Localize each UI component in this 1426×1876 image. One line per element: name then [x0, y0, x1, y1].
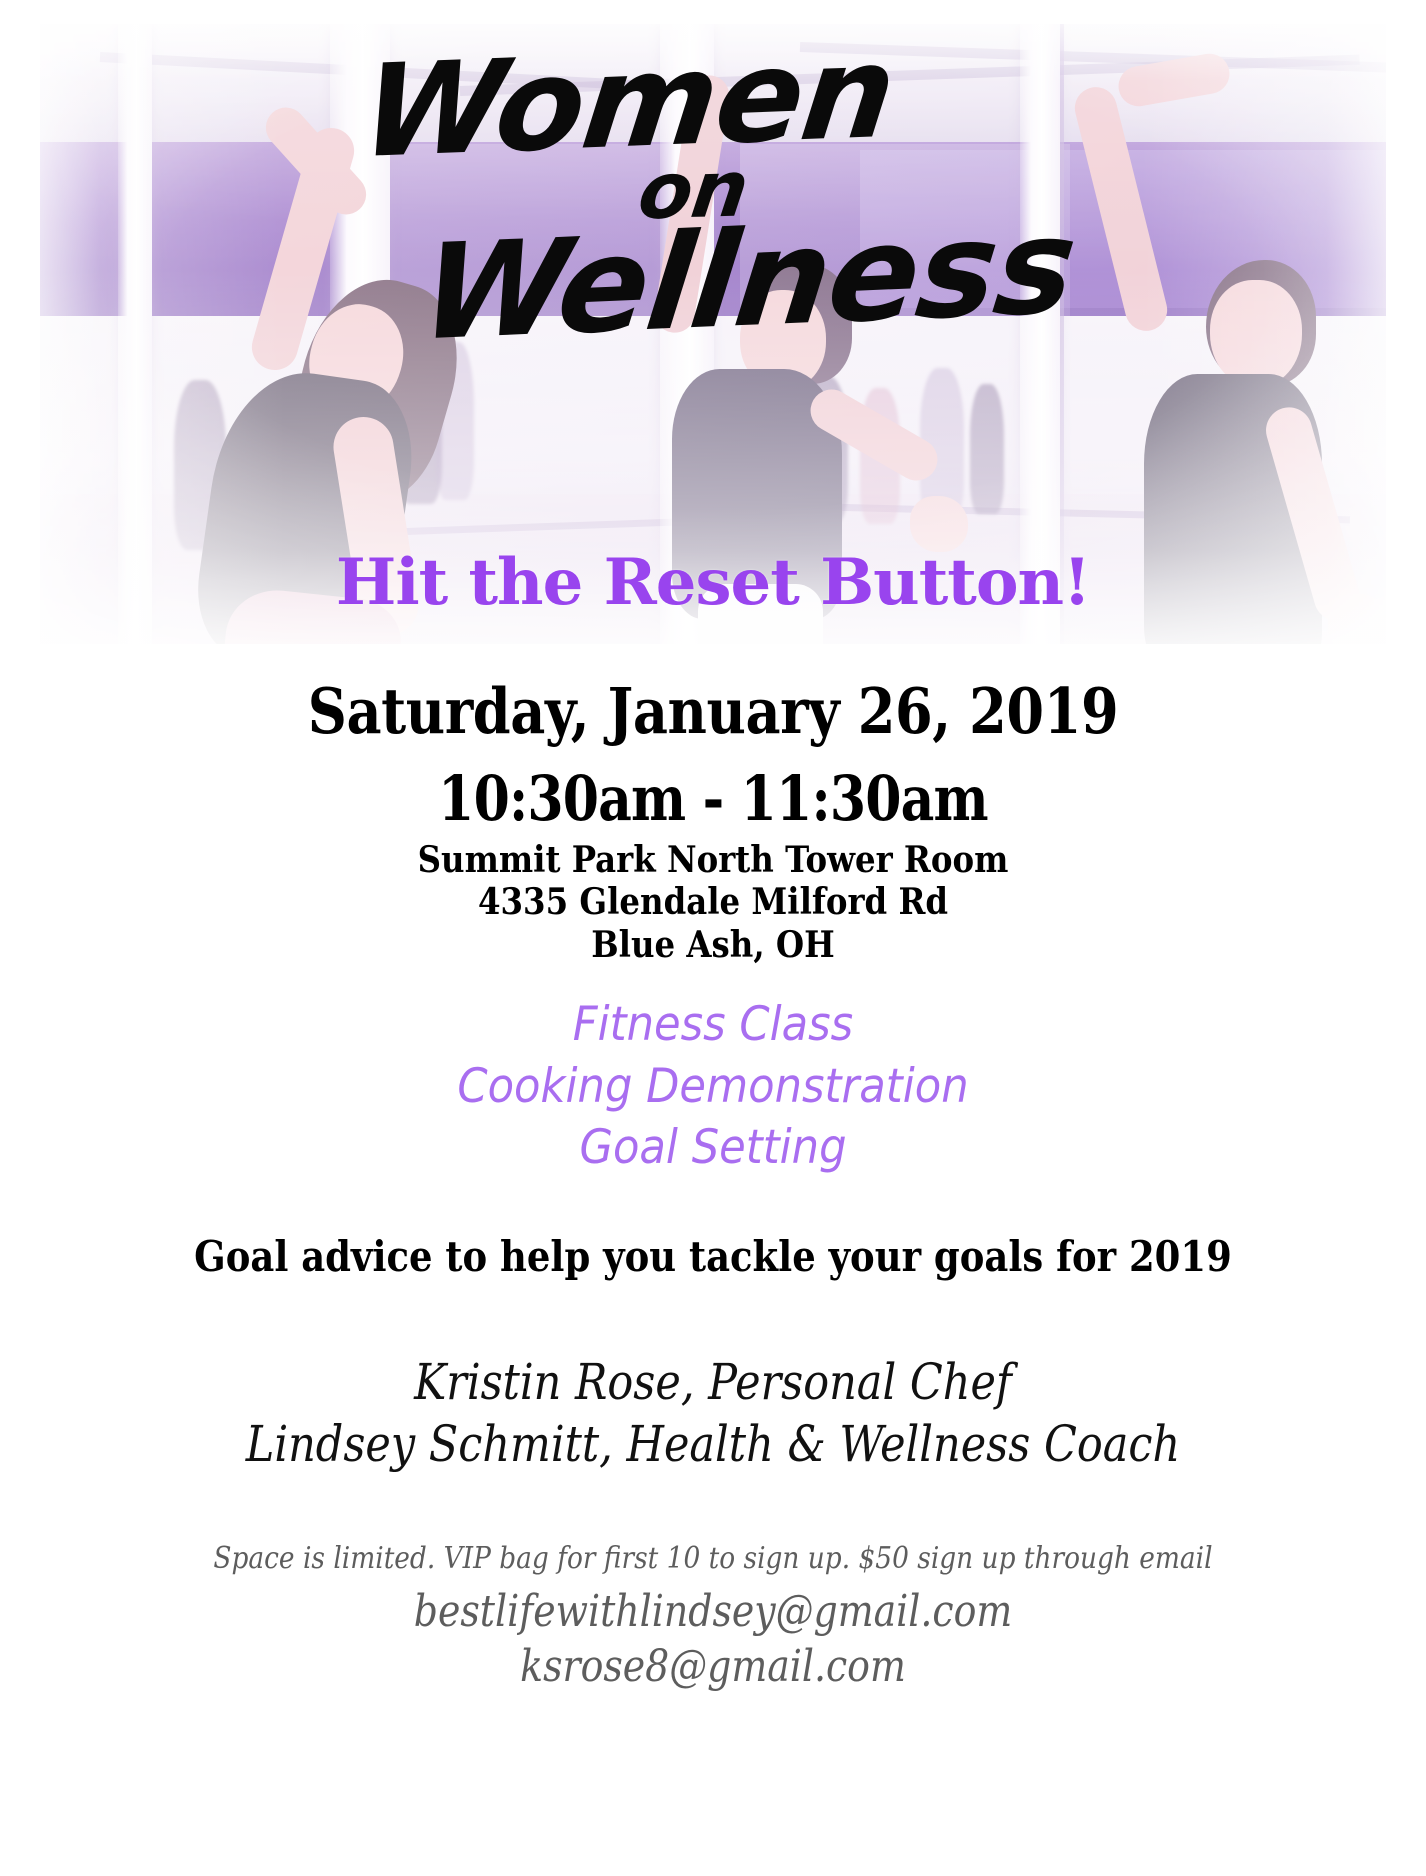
presenter-1: Kristin Rose, Personal Chef — [100, 1351, 1326, 1413]
contact-emails: bestlifewithlindsey@gmail.com ksrose8@gm… — [100, 1584, 1326, 1695]
flyer-body: Saturday, January 26, 2019 10:30am - 11:… — [0, 660, 1426, 1695]
event-venue: Summit Park North Tower Room 4335 Glenda… — [71, 839, 1354, 966]
offerings-list: Fitness Class Cooking Demonstration Goal… — [57, 994, 1369, 1177]
offering-item-3: Goal Setting — [57, 1117, 1369, 1178]
offering-item-2: Cooking Demonstration — [57, 1056, 1369, 1117]
event-time: 10:30am - 11:30am — [114, 762, 1312, 835]
presenter-2: Lindsey Schmitt, Health & Wellness Coach — [100, 1413, 1326, 1475]
email-link-1[interactable]: bestlifewithlindsey@gmail.com — [100, 1584, 1326, 1639]
venue-city: Blue Ash, OH — [71, 924, 1354, 966]
fineprint-note: Space is limited. VIP bag for first 10 t… — [86, 1541, 1341, 1576]
headline: Hit the Reset Button! — [0, 545, 1426, 620]
hero-banner: Women on Wellness Hit the Reset Button! — [0, 0, 1426, 672]
email-link-2[interactable]: ksrose8@gmail.com — [100, 1639, 1326, 1694]
venue-name: Summit Park North Tower Room — [71, 839, 1354, 881]
presenters-list: Kristin Rose, Personal Chef Lindsey Schm… — [100, 1351, 1326, 1475]
advice-tagline: Goal advice to help you tackle your goal… — [86, 1232, 1341, 1281]
venue-street: 4335 Glendale Milford Rd — [71, 881, 1354, 923]
event-date: Saturday, January 26, 2019 — [100, 674, 1326, 748]
offering-item-1: Fitness Class — [57, 994, 1369, 1055]
